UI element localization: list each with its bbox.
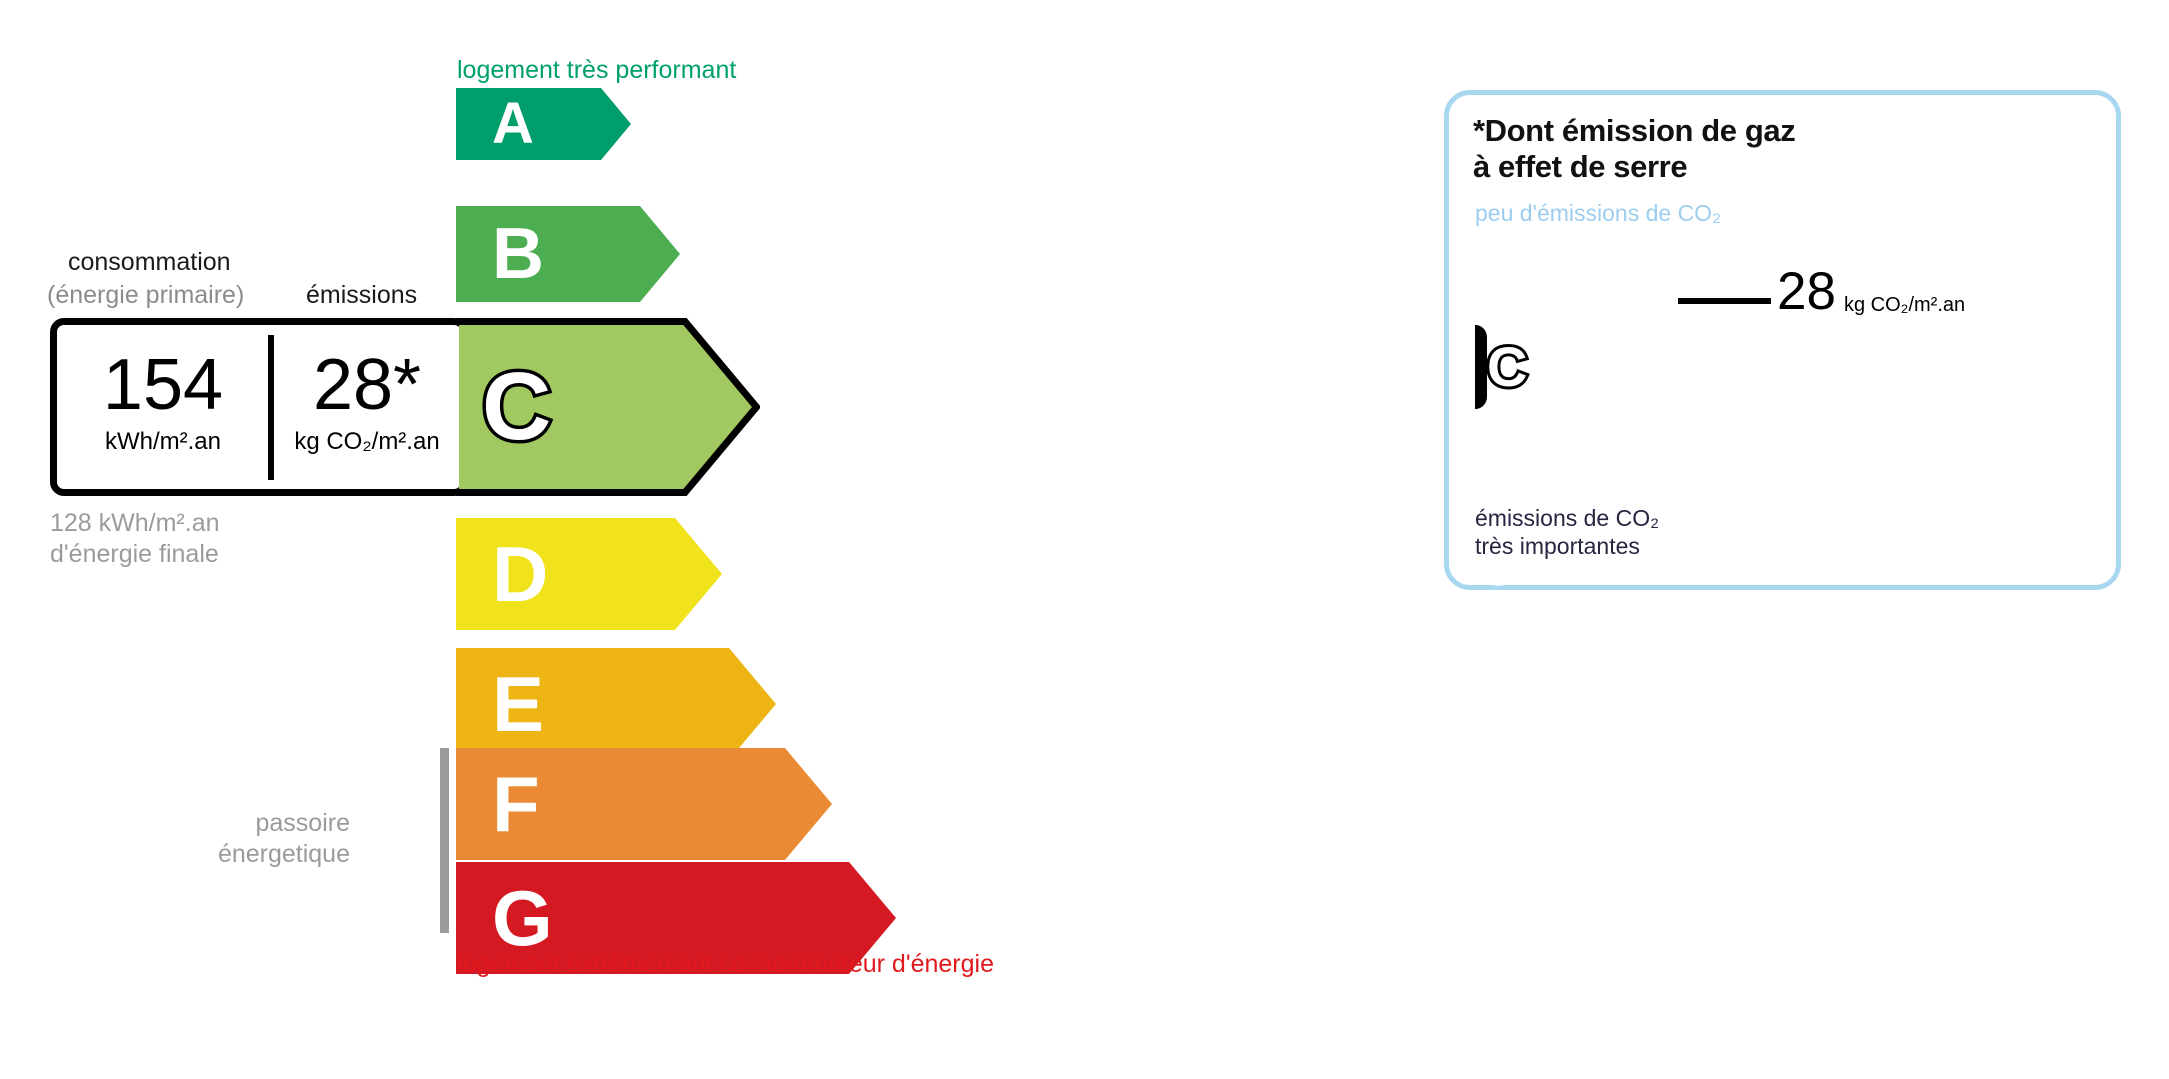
energy-band-arrow-e (456, 648, 776, 760)
co2-caption-bottom: émissions de CO₂ très importantes (1475, 505, 1659, 560)
energy-band-a: A (456, 88, 631, 160)
co2-band-letter-g: G (1485, 558, 1511, 591)
co2-caption-bottom-line1: émissions de CO₂ (1475, 505, 1659, 533)
final-energy-note-line1: 128 kWh/m².an (50, 508, 220, 539)
consumption-value: 154 (58, 349, 268, 421)
energy-band-arrow-f (456, 748, 832, 860)
emission-value: 28* (276, 349, 458, 421)
energy-caption-top: logement très performant (457, 56, 736, 85)
label-emissions: émissions (306, 281, 417, 310)
consumption-unit: kWh/m².an (58, 430, 268, 454)
co2-band-g: G (1475, 555, 1761, 593)
co2-band-letter-a: A (1485, 236, 1509, 269)
label-energie-primaire: (énergie primaire) (47, 281, 244, 310)
co2-leader-line (1678, 298, 1771, 304)
passoire-indicator-bar (440, 748, 449, 933)
passoire-label: passoire énergetique (190, 808, 350, 869)
final-energy-note: 128 kWh/m².an d'énergie finale (50, 508, 220, 569)
co2-band-letter-e: E (1485, 466, 1507, 499)
co2-band-d: D (1475, 417, 1667, 455)
co2-caption-bottom-line2: très importantes (1475, 533, 1659, 561)
energy-band-c: C (456, 318, 760, 496)
passoire-label-line2: énergetique (190, 839, 350, 870)
energy-band-arrow-b (456, 206, 680, 302)
value-box-arrow-joiner (459, 325, 469, 489)
energy-band-arrow-d (456, 518, 722, 630)
co2-band-letter-c: C (1487, 339, 1527, 395)
co2-band-letter-b: B (1485, 282, 1509, 315)
energy-band-f: F (456, 748, 832, 860)
consumption-value-cell: 154 kWh/m².an (58, 349, 268, 454)
co2-caption-top: peu d'émissions de CO₂ (1475, 200, 1721, 227)
energy-band-d: D (456, 518, 722, 630)
energy-band-b: B (456, 206, 680, 302)
co2-band-c: C (1475, 325, 1639, 409)
energy-band-e: E (456, 648, 776, 760)
co2-emissions-panel: *Dont émission de gaz à effet de serre p… (1444, 90, 2121, 590)
co2-title-line2: à effet de serre (1473, 149, 1795, 185)
dpe-energy-label: logement très performant ABCDEFG consomm… (0, 0, 2169, 1079)
energy-caption-bottom: logement extrêmement consommateur d'éner… (457, 950, 994, 979)
co2-band-letter-d: D (1485, 420, 1509, 453)
final-energy-note-line2: d'énergie finale (50, 539, 220, 570)
co2-band-b: B (1475, 279, 1587, 317)
co2-band-bar-c (1475, 325, 1487, 409)
co2-band-a: A (1475, 233, 1556, 271)
energy-performance-panel: logement très performant ABCDEFG consomm… (0, 0, 1380, 1079)
co2-value-unit: kg CO₂/m².an (1844, 295, 1965, 315)
co2-band-e: E (1475, 463, 1699, 501)
passoire-label-line1: passoire (190, 808, 350, 839)
value-box-divider (268, 335, 274, 480)
energy-band-arrow-a (456, 88, 631, 160)
co2-panel-title: *Dont émission de gaz à effet de serre (1473, 113, 1795, 185)
co2-title-line1: *Dont émission de gaz (1473, 113, 1795, 149)
emission-value-cell: 28* kg CO₂/m².an (276, 349, 458, 454)
emission-unit: kg CO₂/m².an (276, 430, 458, 454)
label-consommation: consommation (68, 248, 231, 277)
co2-value: 28 (1777, 265, 1836, 318)
energy-band-arrow-c (456, 318, 760, 496)
